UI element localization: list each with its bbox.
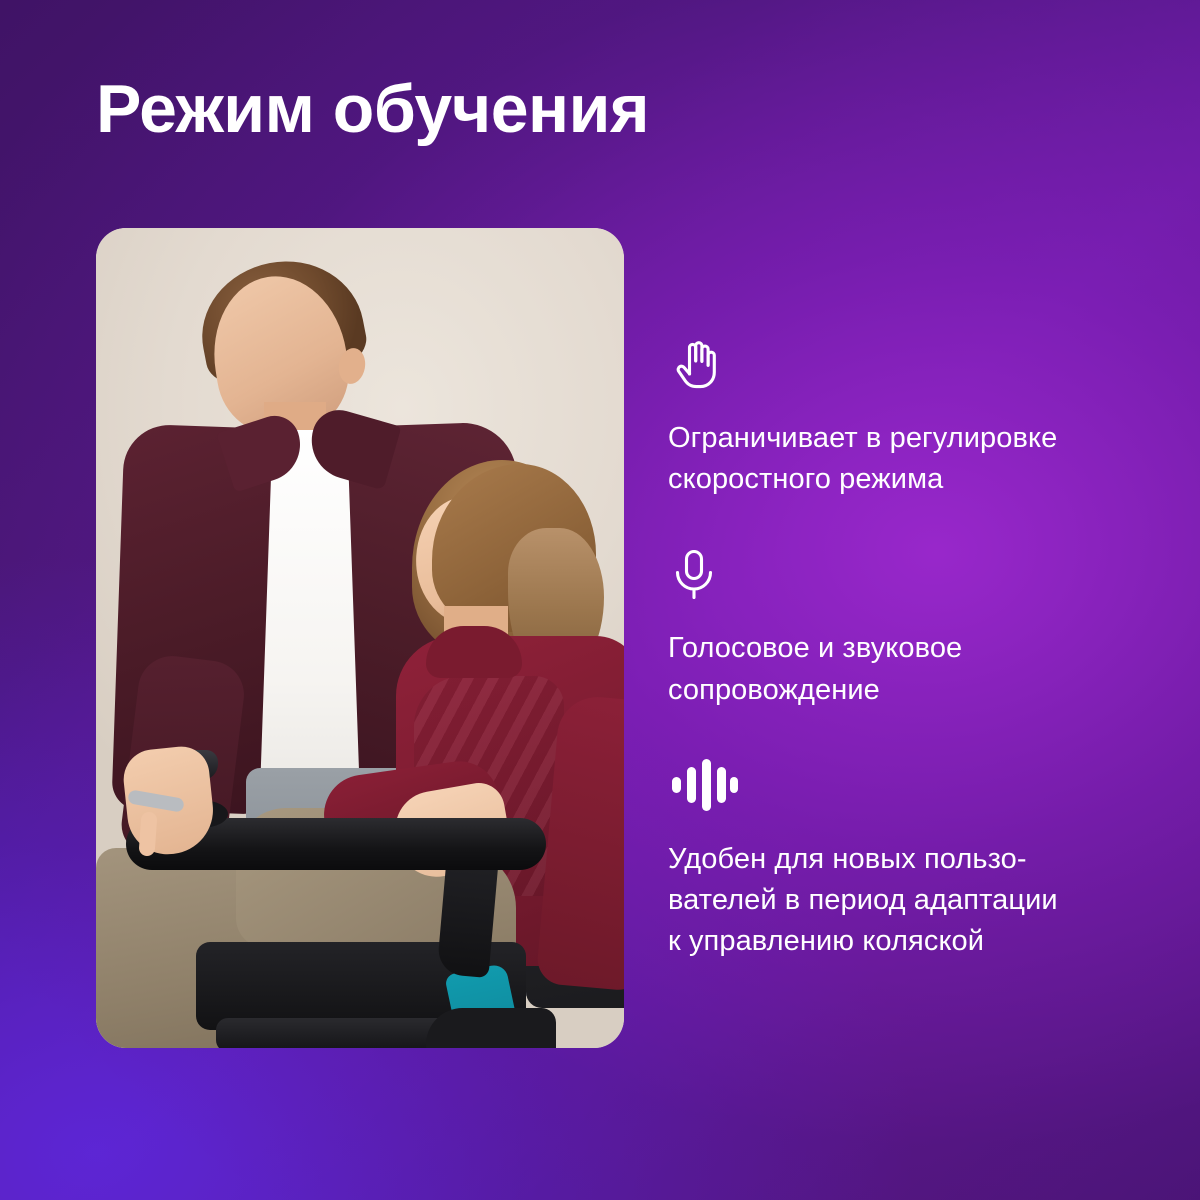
sound-wave-icon xyxy=(668,757,1128,817)
feature-item-voice: Голосовое и звуковое сопровождение xyxy=(668,546,1128,710)
photo-card xyxy=(96,228,624,1048)
feature-item-speed-limit: Ограничивает в регулировке скоростного р… xyxy=(668,336,1128,500)
feature-item-adaptation: Удобен для новых пользо- вателей в перио… xyxy=(668,757,1128,963)
feature-text: Голосовое и звуковое сопровождение xyxy=(668,628,1128,710)
feature-list: Ограничивает в регулировке скоростного р… xyxy=(668,336,1128,962)
raised-hand-icon xyxy=(668,336,1128,396)
wheelchair-base xyxy=(426,1008,556,1048)
page-title: Режим обучения xyxy=(96,74,649,145)
woman-collar xyxy=(426,626,522,678)
man-index-finger xyxy=(138,811,157,856)
feature-text: Ограничивает в регулировке скоростного р… xyxy=(668,418,1128,500)
microphone-icon xyxy=(668,546,1128,606)
slide-root: Режим обучения xyxy=(0,0,1200,1200)
feature-text: Удобен для новых пользо- вателей в перио… xyxy=(668,839,1128,963)
